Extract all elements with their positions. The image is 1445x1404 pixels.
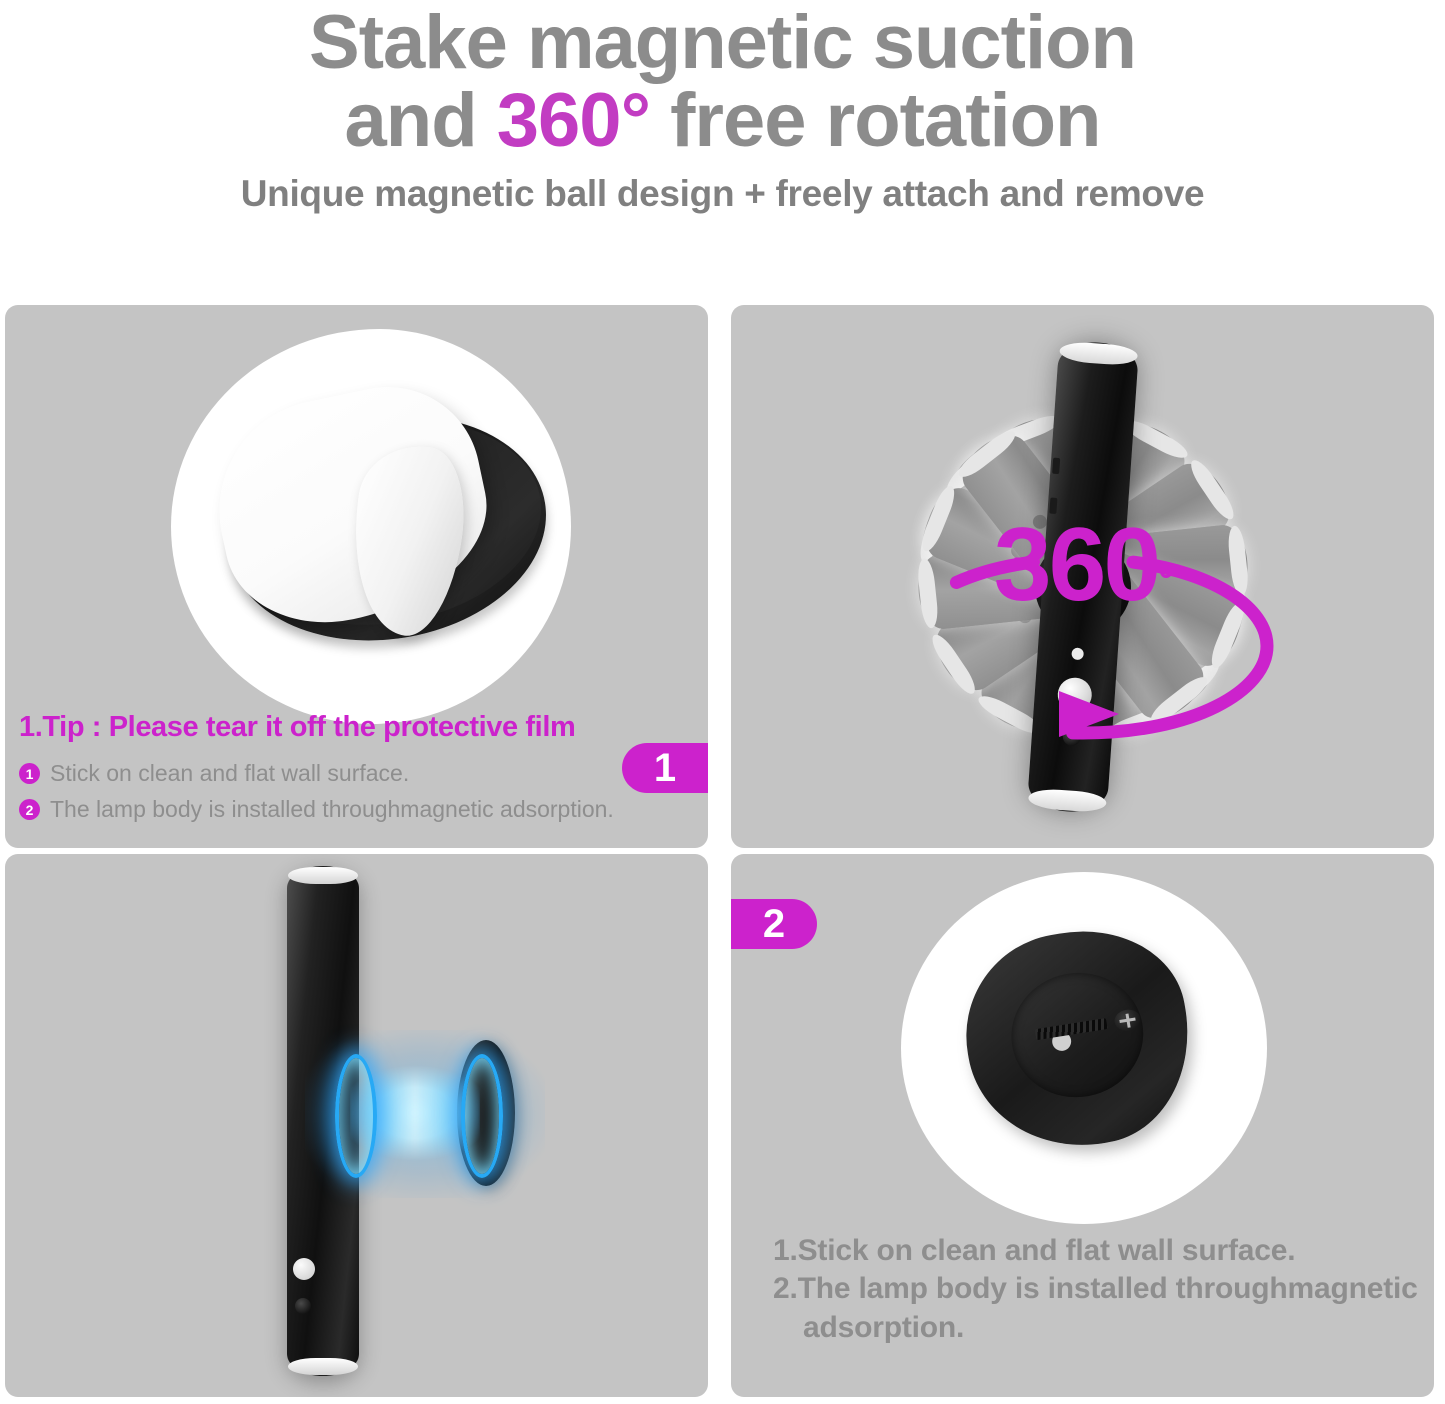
list-item: 1 Stick on clean and flat wall surface.: [19, 760, 679, 787]
lamp-end-cap-top: [1146, 672, 1211, 728]
lamp-end-cap-bottom: [288, 1358, 358, 1375]
lamp-end-cap-top: [1059, 340, 1138, 365]
lamp-end-cap-bottom: [917, 483, 958, 554]
bullet-marker-icon: 1: [19, 763, 40, 784]
adhesive-pad-illustration: [5, 305, 708, 725]
charging-port-icon: [1062, 727, 1081, 746]
lamp-end-cap-bottom: [927, 630, 979, 697]
title-360-highlight: 360°: [497, 78, 650, 163]
lamp-end-cap-bottom: [1027, 787, 1106, 812]
motion-sensor-icon: [293, 1258, 315, 1280]
page-title: Stake magnetic suction and 360° free rot…: [98, 4, 1348, 159]
adhesive-caption-block: 1.Tip : Please tear it off the protectiv…: [19, 711, 679, 832]
led-indicator-icon: [1071, 647, 1084, 660]
side-button-icon: [1052, 457, 1060, 473]
bullet-text: Stick on clean and flat wall surface.: [50, 760, 409, 787]
screw-mount-illustration: [731, 854, 1434, 1254]
lamp-end-cap-bottom: [954, 426, 1019, 482]
magnetic-ring-mount-side: [461, 1054, 503, 1178]
side-button-icon: [1049, 497, 1057, 513]
panel-360-rotation: 360°: [731, 305, 1434, 848]
step-badge-1: 1: [622, 743, 708, 793]
adhesive-bullet-list: 1 Stick on clean and flat wall surface. …: [19, 760, 679, 823]
header: Stake magnetic suction and 360° free rot…: [0, 0, 1445, 215]
magnetic-ring-lamp-side: [335, 1054, 377, 1178]
mount-instruction-2: 2.The lamp body is installed throughmagn…: [773, 1270, 1423, 1308]
bullet-text: The lamp body is installed throughmagnet…: [50, 796, 614, 823]
title-line-1: Stake magnetic suction: [309, 0, 1136, 85]
panel-magnetic-attachment: [5, 854, 708, 1397]
page-subtitle: Unique magnetic ball design + freely att…: [0, 173, 1445, 215]
panel-adhesive-pad: 1.Tip : Please tear it off the protectiv…: [5, 305, 708, 848]
lamp-end-cap-top: [288, 867, 358, 884]
mount-instruction-1: 1.Stick on clean and flat wall surface.: [773, 1232, 1423, 1270]
tip-heading: 1.Tip : Please tear it off the protectiv…: [19, 711, 679, 744]
title-line-2-suffix: free rotation: [650, 78, 1101, 163]
feature-panel-grid: 1.Tip : Please tear it off the protectiv…: [5, 305, 1440, 1397]
lamp-end-cap-top: [1186, 456, 1238, 523]
list-item: 2 The lamp body is installed throughmagn…: [19, 796, 679, 823]
mount-caption-block: 1.Stick on clean and flat wall surface. …: [773, 1232, 1423, 1347]
rotation-illustration: 360°: [731, 305, 1434, 848]
charging-port-icon: [295, 1298, 311, 1314]
title-line-2-prefix: and: [345, 78, 497, 163]
bullet-marker-icon: 2: [19, 799, 40, 820]
mount-instruction-3: adsorption.: [773, 1309, 1423, 1347]
magnetic-attachment-illustration: [5, 854, 708, 1397]
lamp-end-cap-bottom: [916, 557, 939, 628]
lamp-end-cap-top: [1226, 525, 1249, 596]
lamp-body-main: [1026, 339, 1139, 813]
motion-sensor-icon: [1056, 676, 1092, 712]
lamp-end-cap-top: [1207, 599, 1248, 670]
panel-screw-mount: 2 1.Stick on clean and flat wall surface…: [731, 854, 1434, 1397]
